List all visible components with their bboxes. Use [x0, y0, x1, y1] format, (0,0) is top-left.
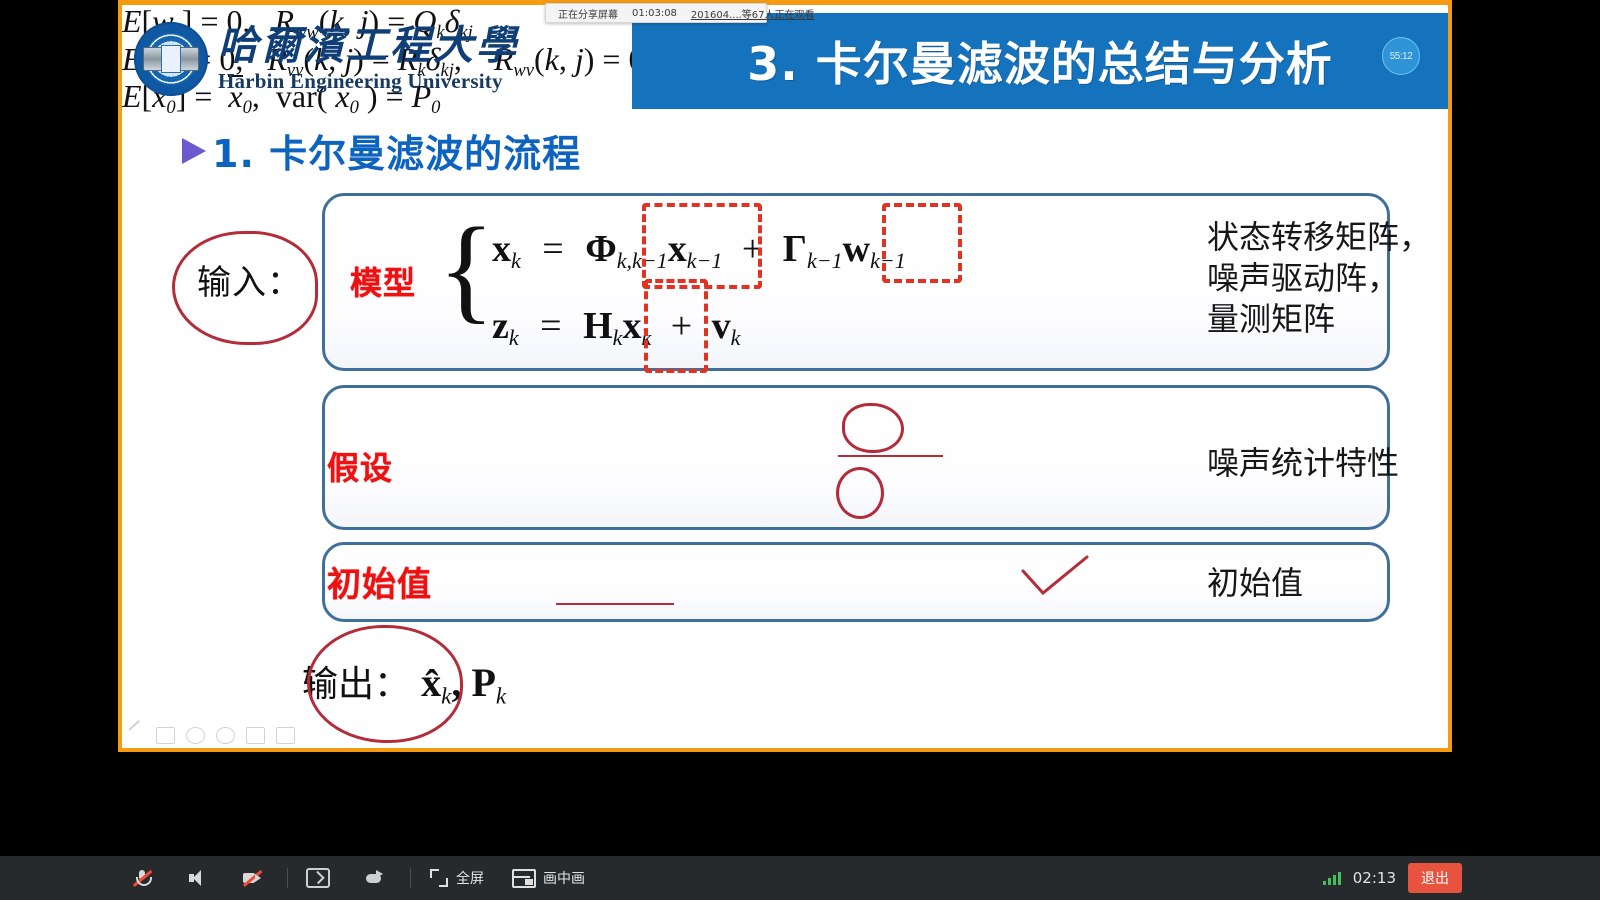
- mic-button[interactable]: [118, 856, 173, 900]
- undo-icon[interactable]: [186, 727, 205, 744]
- fullscreen-button[interactable]: 全屏: [415, 856, 498, 900]
- camera-button[interactable]: [228, 856, 283, 900]
- assumption-red-label: 假设: [327, 443, 393, 489]
- pen-tool-icon[interactable]: [128, 728, 145, 743]
- timer-badge: 55:12: [1382, 37, 1420, 75]
- camera-off-icon: [242, 868, 262, 888]
- initial-value-note: 初始值: [1207, 563, 1303, 604]
- university-name: 哈爾濱工程大學 Harbin Engineering University: [218, 25, 519, 94]
- initial-value-red-label: 初始值: [327, 557, 432, 606]
- output-label: 输出：: [302, 664, 410, 705]
- state-equation: xk = Φk,k−1xk−1 + Γk−1wk−1: [492, 230, 906, 272]
- speaker-button[interactable]: [173, 856, 228, 900]
- pointer-icon[interactable]: [246, 727, 265, 744]
- output-formula: x̂k, Pk: [421, 660, 506, 705]
- presentation-slide: 哈爾濱工程大學 Harbin Engineering University 3.…: [122, 5, 1448, 748]
- redo-icon[interactable]: [216, 727, 235, 744]
- picture-in-picture-icon: [512, 869, 536, 888]
- university-seal-icon: [134, 22, 208, 96]
- share-viewers-count: 201604....等67人正在观看: [691, 6, 815, 21]
- toolbar-left-group: 全屏 画中画: [0, 856, 599, 900]
- slide-subtitle-text: 1. 卡尔曼滤波的流程: [212, 123, 581, 178]
- share-content-icon: [365, 868, 385, 888]
- slide-title: 3. 卡尔曼滤波的总结与分析: [747, 28, 1333, 94]
- toolbar-divider-2: [410, 868, 411, 888]
- model-red-label: 模型: [350, 258, 416, 304]
- model-note: 状态转移矩阵， 噪声驱动阵， 量测矩阵: [1207, 217, 1431, 340]
- screen-root: 哈爾濱工程大學 Harbin Engineering University 3.…: [0, 0, 1600, 900]
- slide-header: 哈爾濱工程大學 Harbin Engineering University 3.…: [122, 5, 1448, 109]
- meeting-clock: 02:13: [1353, 869, 1396, 887]
- shared-screen-content: 哈爾濱工程大學 Harbin Engineering University 3.…: [122, 5, 1448, 748]
- shared-screen-frame: 哈爾濱工程大學 Harbin Engineering University 3.…: [118, 0, 1452, 752]
- share-screen-button[interactable]: [292, 856, 351, 900]
- university-name-en: Harbin Engineering University: [218, 69, 519, 94]
- mic-muted-icon: [132, 868, 152, 888]
- share-status-text: 正在分享屏幕: [558, 6, 618, 21]
- arrow-bullet-icon: [182, 138, 206, 164]
- model-note-line-2: 噪声驱动阵，: [1207, 258, 1431, 299]
- pip-label: 画中画: [543, 868, 585, 888]
- slide-title-band: 3. 卡尔曼滤波的总结与分析 55:12: [632, 13, 1448, 109]
- university-name-cn: 哈爾濱工程大學: [218, 25, 519, 67]
- pip-button[interactable]: 画中画: [498, 856, 599, 900]
- output-row: 输出： x̂k, Pk: [302, 655, 506, 709]
- input-label: 输入：: [197, 255, 302, 304]
- signal-bars-icon: [1323, 871, 1341, 885]
- more-options-icon[interactable]: [276, 727, 295, 744]
- check-ink-mark: [1017, 553, 1097, 603]
- share-screen-icon: [306, 868, 330, 888]
- ppt-presenter-toolbar[interactable]: [128, 727, 295, 744]
- fullscreen-label: 全屏: [456, 868, 484, 888]
- speaker-icon: [187, 868, 207, 888]
- assumption-note: 噪声统计特性: [1207, 443, 1399, 484]
- model-brace: {: [438, 210, 495, 328]
- share-status-pill: 正在分享屏幕 01:03:08 201604....等67人正在观看: [545, 3, 767, 23]
- measurement-equation: zk = Hkxk + vk: [492, 307, 740, 349]
- initial-value-note-line-1: 初始值: [1207, 563, 1303, 604]
- toolbar-right-group: 02:13 退出: [1323, 863, 1600, 893]
- university-logo: 哈爾濱工程大學 Harbin Engineering University: [134, 13, 512, 105]
- slide-subtitle: 1. 卡尔曼滤波的流程: [182, 123, 581, 178]
- model-note-line-3: 量测矩阵: [1207, 299, 1431, 340]
- share-content-button[interactable]: [351, 856, 406, 900]
- assumption-note-line-1: 噪声统计特性: [1207, 443, 1399, 484]
- meeting-toolbar: 全屏 画中画 02:13 退出: [0, 856, 1600, 900]
- exit-button[interactable]: 退出: [1408, 863, 1462, 893]
- model-note-line-1: 状态转移矩阵，: [1207, 217, 1431, 258]
- toolbar-divider-1: [287, 868, 288, 888]
- slide-thumbnail-icon[interactable]: [156, 727, 175, 744]
- fullscreen-icon: [429, 868, 449, 888]
- share-elapsed-time: 01:03:08: [632, 8, 677, 19]
